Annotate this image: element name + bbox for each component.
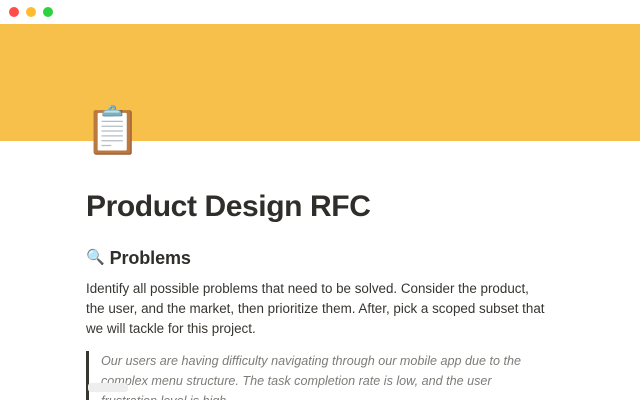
bottom-block-placeholder[interactable] bbox=[88, 383, 128, 392]
section-paragraph[interactable]: Identify all possible problems that need… bbox=[86, 270, 547, 339]
title-bar bbox=[0, 0, 640, 24]
traffic-light-group bbox=[9, 7, 53, 17]
callout-quote[interactable]: Our users are having difficulty navigati… bbox=[86, 351, 547, 400]
maximize-button[interactable] bbox=[43, 7, 53, 17]
magnifying-glass-emoji-icon: 🔍 bbox=[86, 246, 105, 270]
section-heading-label: Problems bbox=[110, 246, 191, 270]
section-heading[interactable]: 🔍 Problems bbox=[86, 226, 556, 270]
close-button[interactable] bbox=[9, 7, 19, 17]
callout-quote-text: Our users are having difficulty navigati… bbox=[101, 351, 546, 400]
clipboard-emoji-icon[interactable]: 📋 bbox=[84, 103, 138, 157]
app-window: 📋 Product Design RFC 🔍 Problems Identify… bbox=[0, 0, 640, 400]
page-title[interactable]: Product Design RFC bbox=[86, 141, 556, 226]
document-body: Product Design RFC 🔍 Problems Identify a… bbox=[86, 141, 556, 400]
minimize-button[interactable] bbox=[26, 7, 36, 17]
